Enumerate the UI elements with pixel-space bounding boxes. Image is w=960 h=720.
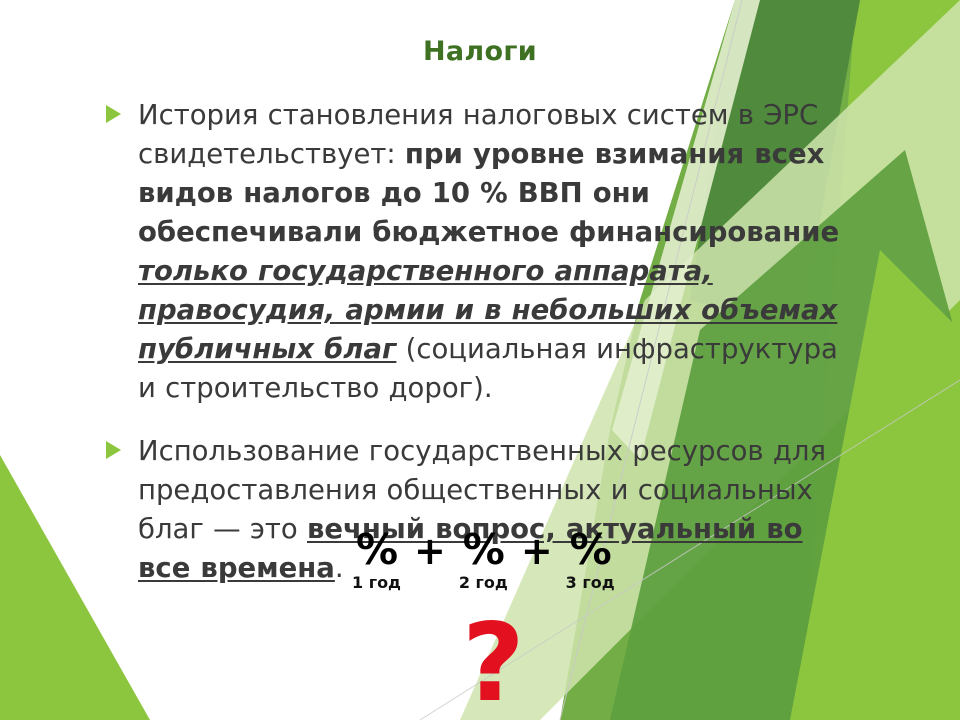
percent-symbol-2: % [463,528,504,572]
percent-item-3: % 3 год [566,528,615,593]
page-title: Налоги [0,36,960,67]
segment-normal-tail: . [335,552,344,584]
percent-item-2: % 2 год [459,528,508,593]
percent-symbol-3: % [570,528,611,572]
triangle-bullet-icon [106,441,121,459]
percent-label-3: 3 год [566,573,615,593]
percent-graphic: % 1 год + % 2 год + % 3 год [352,528,615,593]
question-mark-icon: ? [462,614,525,714]
bullet-paragraph-1: История становления налоговых систем в Э… [138,96,860,408]
percent-item-1: % 1 год [352,528,401,593]
percent-label-1: 1 год [352,573,401,593]
slide-canvas: Налоги История становления налоговых сис… [0,0,960,720]
percent-row: % 1 год + % 2 год + % 3 год [352,528,615,593]
plus-operator-2: + [521,529,553,573]
percent-label-2: 2 год [459,573,508,593]
triangle-bullet-icon [106,105,121,123]
plus-operator-1: + [414,529,446,573]
list-item: История становления налоговых систем в Э… [100,96,860,408]
percent-symbol-1: % [356,528,397,572]
